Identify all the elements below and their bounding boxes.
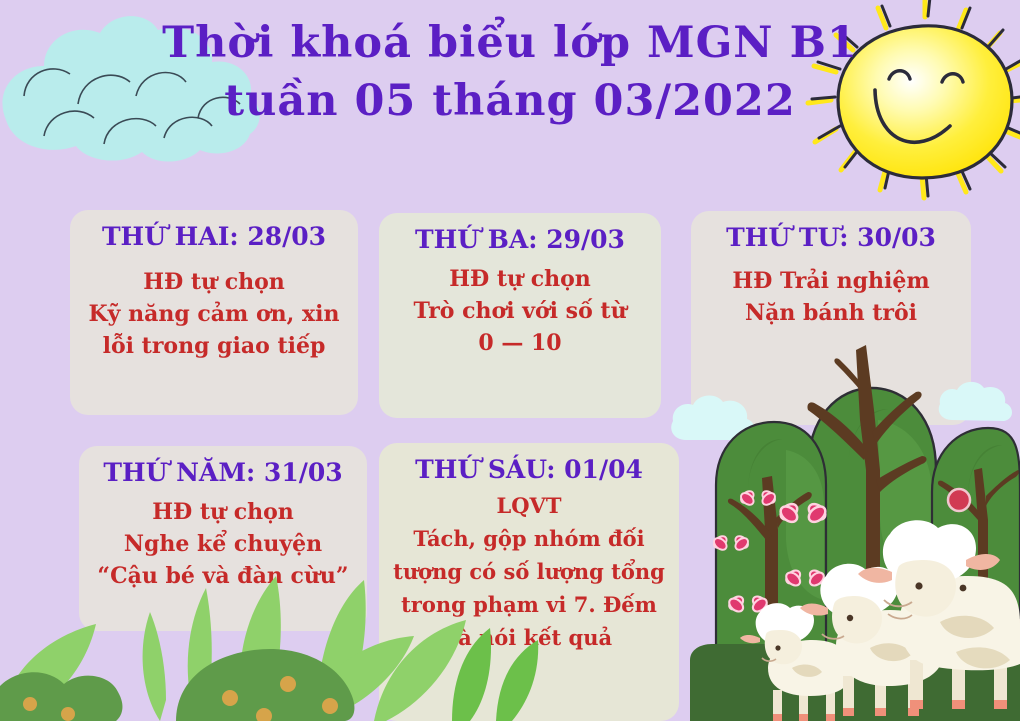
- berry-icon: [998, 614, 1020, 636]
- berry-icon: [948, 489, 970, 511]
- schedule-card-monday[interactable]: THỨ HAI: 28/03 HĐ tự chọn Kỹ năng cảm ơn…: [70, 210, 358, 415]
- bush-icon: [0, 649, 354, 721]
- card-activity-line: HĐ tự chọn: [387, 263, 653, 295]
- card-activity-line: trong phạm vi 7. Đếm: [387, 588, 671, 621]
- sheep-icon: [800, 564, 944, 716]
- berry-icon: [949, 616, 971, 638]
- sheep-icon: [858, 520, 1020, 709]
- card-activity-line: LQVT: [387, 489, 671, 522]
- card-activity-line: HĐ Trải nghiệm: [699, 265, 963, 297]
- schedule-card-wednesday[interactable]: THỨ TƯ: 30/03 HĐ Trải nghiệm Nặn bánh tr…: [691, 211, 971, 425]
- schedule-poster: Thời khoá biểu lớp MGN B1 tuần 05 tháng …: [0, 0, 1020, 721]
- card-day-label: THỨ HAI: 28/03: [78, 220, 350, 254]
- poster-title: Thời khoá biểu lớp MGN B1 tuần 05 tháng …: [0, 14, 1020, 130]
- card-activity-line: 0 — 10: [387, 327, 653, 359]
- tree-icon: [712, 422, 829, 663]
- title-line-1: Thời khoá biểu lớp MGN B1: [0, 14, 1020, 72]
- card-day-label: THỨ SÁU: 01/04: [387, 453, 671, 487]
- card-activity-line: Kỹ năng cảm ơn, xin: [78, 298, 350, 330]
- title-line-2: tuần 05 tháng 03/2022: [0, 72, 1020, 130]
- card-activity-line: HĐ tự chọn: [78, 266, 350, 298]
- card-activity-line: và nói kết quả: [387, 621, 671, 654]
- schedule-card-tuesday[interactable]: THỨ BA: 29/03 HĐ tự chọn Trò chơi với số…: [379, 213, 661, 418]
- card-day-label: THỨ NĂM: 31/03: [87, 456, 359, 490]
- card-activity-line: Nghe kể chuyện: [87, 528, 359, 560]
- flower-icon: [712, 489, 829, 614]
- card-activity-line: “Cậu bé và đàn cừu”: [87, 560, 359, 592]
- card-day-label: THỨ TƯ: 30/03: [699, 221, 963, 255]
- grass-icon: [690, 644, 1020, 721]
- berry-icon: [322, 698, 338, 714]
- card-activity-line: lỗi trong giao tiếp: [78, 330, 350, 362]
- card-day-label: THỨ BA: 29/03: [387, 223, 653, 257]
- card-activity-line: tượng có số lượng tổng: [387, 555, 671, 588]
- card-activity-line: Tách, gộp nhóm đối: [387, 522, 671, 555]
- berry-icon: [61, 707, 75, 721]
- schedule-card-thursday[interactable]: THỨ NĂM: 31/03 HĐ tự chọn Nghe kể chuyện…: [79, 446, 367, 631]
- berry-icon: [222, 690, 238, 706]
- berry-icon: [23, 697, 37, 711]
- tree-icon: [932, 428, 1020, 663]
- sheep-icon: [740, 603, 852, 721]
- card-activity-line: HĐ tự chọn: [87, 496, 359, 528]
- berry-icon: [256, 708, 272, 721]
- card-activity-line: Nặn bánh trôi: [699, 297, 963, 329]
- schedule-card-friday[interactable]: THỨ SÁU: 01/04 LQVT Tách, gộp nhóm đối t…: [379, 443, 679, 721]
- card-activity-line: Trò chơi với số từ: [387, 295, 653, 327]
- berry-icon: [280, 676, 296, 692]
